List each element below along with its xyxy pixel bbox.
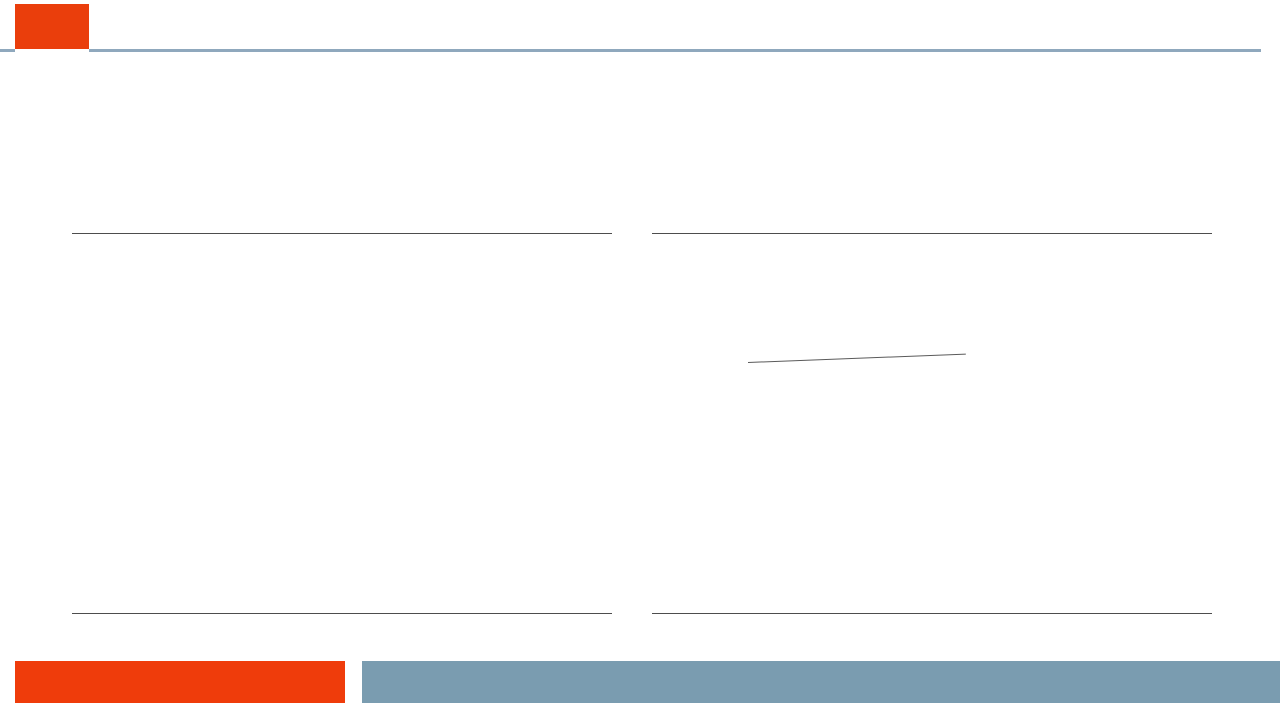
kysec-logo	[15, 661, 345, 703]
chart-title-stacked-bar	[72, 222, 612, 226]
panel-rule-bottom	[652, 613, 1212, 614]
pie-callout-leader-line	[748, 354, 966, 364]
stacked-bar-chart	[72, 258, 612, 588]
footer-accent-band	[362, 661, 1280, 703]
panel-rule-top	[652, 233, 1212, 234]
panel-rule-top	[72, 233, 612, 234]
panel-rule-bottom	[72, 613, 612, 614]
chart-title-pie	[652, 222, 1212, 226]
header-rule	[89, 49, 1261, 52]
header-rule-left	[0, 49, 15, 52]
slide-header	[0, 0, 1280, 56]
chart-panel-stacked-bar	[72, 222, 612, 652]
section-number-badge	[15, 4, 89, 49]
chart-panel-pie	[652, 222, 1212, 652]
pie-chart	[652, 258, 1212, 598]
